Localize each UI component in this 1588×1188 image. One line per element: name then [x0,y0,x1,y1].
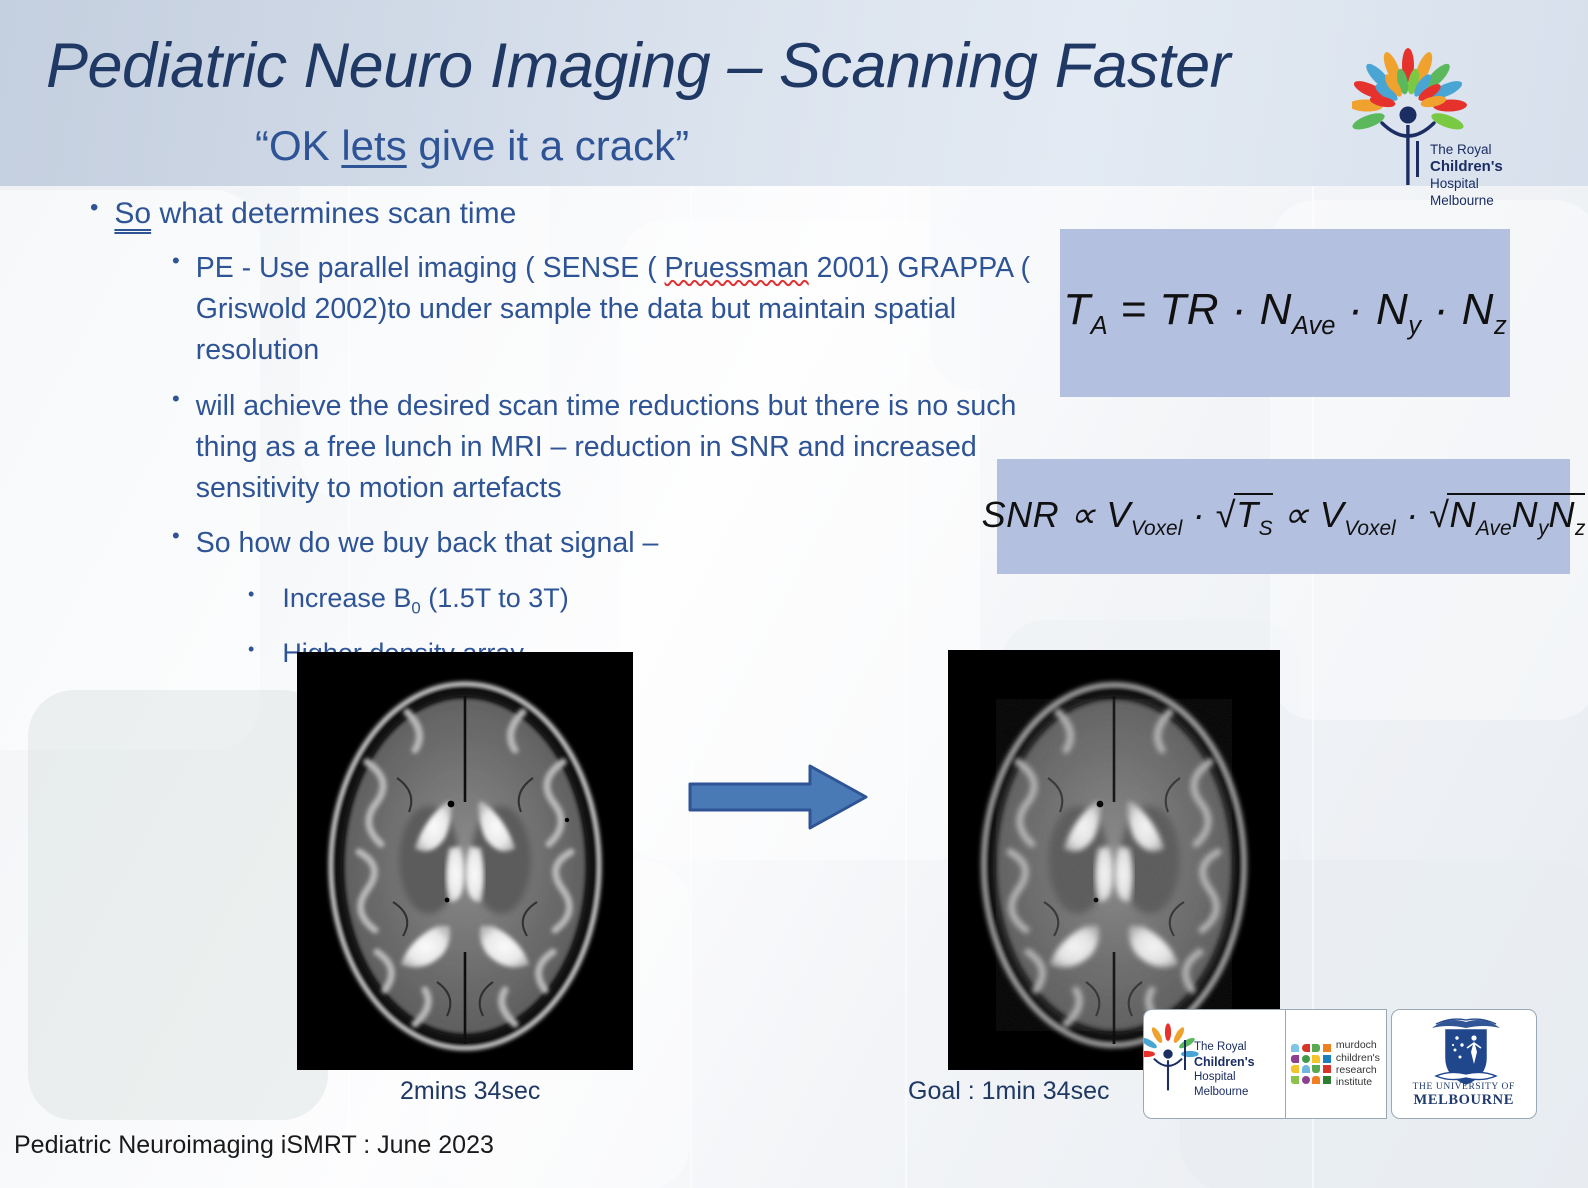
page-subtitle: “OK lets give it a crack” [255,122,689,170]
subtitle-underlined-word: lets [341,122,406,169]
equation-snr: SNR ∝ VVoxel · √TS ∝ VVoxel · √NAveNyNz [982,491,1586,541]
rch-small-rule [1184,1040,1186,1070]
equation-box-snr: SNR ∝ VVoxel · √TS ∝ VVoxel · √NAveNyNz [997,459,1570,574]
bullet-level1: • So what determines scan time [90,194,1060,234]
equation-box-acquisition-time: TA = TR · NAve · Ny · Nz [1060,229,1510,397]
rch-line-1: The Royal [1430,142,1492,157]
rch-small-line-4: Melbourne [1194,1086,1248,1098]
eq2-snr: SNR [982,494,1060,535]
eq2-nsub-z: z [1575,518,1585,541]
bullet-text-pre: Increase B [282,583,411,613]
equation-acquisition-time: TA = TR · NAve · Ny · Nz [1063,285,1506,341]
eq1-sub-y: y [1408,312,1421,340]
slide-header-band: Pediatric Neuro Imaging – Scanning Faste… [0,0,1588,186]
rch-line-3: Hospital [1430,176,1479,191]
bullet-level1-text: So what determines scan time [114,194,516,234]
slide-footer: Pediatric Neuroimaging iSMRT : June 2023 [14,1131,494,1160]
rch-logo-rule [1416,141,1419,177]
unimelb-wordmark: THE UNIVERSITY OF MELBOURNE [1392,1082,1537,1109]
logo-cell-mcri: murdoch children's research institute [1285,1009,1387,1119]
eq1-equals: = [1108,285,1160,334]
rch-line-2: Children's [1430,158,1503,175]
mcri-word-1: murdoch [1336,1039,1380,1051]
slide-canvas: Pediatric Neuro Imaging – Scanning Faste… [0,0,1588,1188]
eq2-v-1: V [1106,494,1131,535]
eq2-n-2: N [1512,494,1539,535]
bullet-marker: • [172,523,180,564]
mcri-wordmark: murdoch children's research institute [1336,1039,1380,1089]
unimelb-line-2: MELBOURNE [1392,1092,1537,1109]
eq2-tsub: S [1259,518,1273,541]
bullet-marker: • [90,194,98,234]
eq1-lhs-sub: A [1091,312,1108,340]
bullet-level2: • PE - Use parallel imaging ( SENSE ( Pr… [172,248,1060,372]
sqrt-n-product: √NAveNyNz [1429,491,1585,541]
bullet-level1-rest: what determines scan time [151,197,516,230]
mcri-word-2: children's [1336,1052,1380,1064]
eq1-lhs: T [1063,285,1090,334]
rch-small-line-2: Children's [1194,1055,1255,1069]
bullet-marker: • [172,248,180,372]
radical-sign: √ [1429,494,1449,535]
rch-small-line-1: The Royal [1194,1041,1246,1053]
eq2-v-2: V [1320,494,1345,535]
eq2-n-3: N [1549,494,1576,535]
eq2-dot-2: · [1396,494,1430,535]
rch-logo-wordmark: The Royal Children's Hospital Melbourne [1430,141,1503,209]
royal-childrens-hospital-logo: The Royal Children's Hospital Melbourne [1352,45,1527,215]
mcri-word-4: institute [1336,1076,1380,1088]
eq2-vsub-2: Voxel [1344,518,1395,541]
slide-body: • So what determines scan time • PE - Us… [0,186,1060,674]
eq2-prop-2: ∝ [1273,494,1320,535]
radical-bar [1447,493,1585,495]
partner-logo-strip: The Royal Children's Hospital Melbourne [1143,1009,1537,1119]
eq1-sub-z: z [1494,312,1507,340]
page-title: Pediatric Neuro Imaging – Scanning Faste… [46,30,1230,102]
caption-right-scan-time: Goal : 1min 34sec [908,1077,1110,1106]
bullet-level2: • will achieve the desired scan time red… [172,386,1060,510]
rch-small-line-3: Hospital [1194,1071,1236,1083]
mri-image-right [948,650,1280,1070]
footer-text: Pediatric Neuroimaging iSMRT : June 2023 [14,1131,494,1159]
mcri-color-grid-icon [1291,1044,1331,1084]
bullet-marker: • [172,386,180,510]
background-shape [28,690,328,1120]
bullet-marker: • [248,634,254,673]
rch-line-4: Melbourne [1430,193,1494,208]
logo-cell-rch: The Royal Children's Hospital Melbourne [1143,1009,1285,1119]
subscript: 0 [411,598,420,617]
bullet-level2-text: will achieve the desired scan time reduc… [196,386,1060,510]
mcri-logo: murdoch children's research institute [1291,1039,1380,1089]
bullet-level2-text: PE - Use parallel imaging ( SENSE ( Prue… [196,248,1060,372]
eq2-t: T [1236,494,1259,535]
transition-arrow [688,762,868,832]
mri-brain-axial-t2-fast [948,650,1280,1070]
bullet-level2-text: So how do we buy back that signal – [196,523,659,564]
subtitle-prefix: “OK [255,122,341,169]
eq1-mid-1: · N [1335,285,1408,334]
right-arrow-icon [688,762,868,832]
caption-left-scan-time: 2mins 34sec [400,1077,540,1106]
eq2-nsub-y: y [1538,518,1548,541]
logo-cell-university-of-melbourne: THE UNIVERSITY OF MELBOURNE [1391,1009,1538,1119]
mcri-word-3: research [1336,1064,1380,1076]
rch-small-wordmark: The Royal Children's Hospital Melbourne [1194,1040,1255,1099]
bullet-level2: • So how do we buy back that signal – [172,523,1060,564]
mri-brain-axial-t2 [297,652,633,1070]
eq2-dot-1: · [1182,494,1216,535]
eq1-mid-2: · N [1421,285,1494,334]
eq1-body: TR · N [1159,285,1292,334]
bullet-text-pre: PE - Use parallel imaging ( SENSE ( [196,252,665,284]
bullet-level3: • Increase B0 (1.5T to 3T) [248,579,1060,621]
eq2-nsub-ave: Ave [1476,518,1512,541]
bullet-underlined-word: So [114,197,151,230]
bullet-level3-text: Increase B0 (1.5T to 3T) [270,579,568,621]
bullet-text-post: (1.5T to 3T) [421,583,569,613]
eq2-n-1: N [1449,494,1476,535]
spellcheck-word: Pruessman [665,252,809,284]
sqrt-ts: √TS [1216,491,1273,541]
radical-sign: √ [1216,494,1236,535]
eq2-vsub-1: Voxel [1131,518,1182,541]
mri-image-left [297,652,633,1070]
eq1-sub-ave: Ave [1292,312,1336,340]
bullet-marker: • [248,579,254,621]
radical-bar [1234,493,1273,495]
subtitle-suffix: give it a crack” [407,122,689,169]
eq2-prop-1: ∝ [1059,494,1106,535]
unimelb-line-1: THE UNIVERSITY OF [1392,1082,1537,1092]
